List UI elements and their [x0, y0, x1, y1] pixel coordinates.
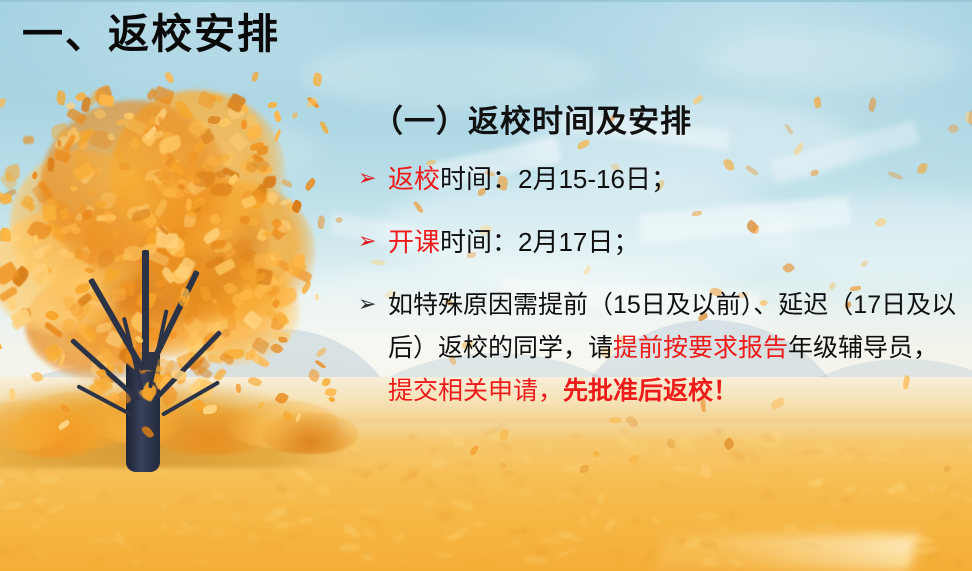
bullet-item: ➢返校时间：2月15-16日；	[358, 158, 958, 201]
page-title: 一、返校安排	[22, 10, 280, 59]
text-span-red: 提前按要求报告	[613, 334, 788, 362]
text-span-red-bold: 先批准后返校！	[563, 377, 738, 405]
bullet-item: ➢开课时间：2月17日；	[358, 221, 958, 264]
bullet-arrow-icon: ➢	[358, 221, 388, 263]
text-span-red: 返校	[388, 164, 440, 194]
text-span-red: 开课	[388, 227, 440, 257]
text-span-red: 提交相关申请，	[388, 377, 563, 405]
section-heading: （一）返校时间及安排	[372, 96, 692, 141]
bullet-text: 开课时间：2月17日；	[388, 221, 958, 264]
text-span-black: 年级辅导员，	[788, 334, 938, 362]
text-span-black: 时间：2月15-16日；	[440, 164, 677, 194]
bullet-text: 返校时间：2月15-16日；	[388, 158, 958, 201]
bullet-arrow-icon: ➢	[358, 284, 388, 326]
bullet-item: ➢如特殊原因需提前（15日及以前）、延迟（17日及以后）返校的同学，请提前按要求…	[358, 284, 958, 413]
bullet-list: ➢返校时间：2月15-16日；➢开课时间：2月17日；➢如特殊原因需提前（15日…	[358, 158, 958, 413]
bullet-text: 如特殊原因需提前（15日及以前）、延迟（17日及以后）返校的同学，请提前按要求报…	[388, 284, 958, 413]
presentation-slide: 一、返校安排 （一）返校时间及安排 ➢返校时间：2月15-16日；➢开课时间：2…	[0, 0, 972, 571]
text-span-black: 时间：2月17日；	[440, 227, 639, 257]
bullet-arrow-icon: ➢	[358, 158, 388, 200]
slide-content: 一、返校安排 （一）返校时间及安排 ➢返校时间：2月15-16日；➢开课时间：2…	[0, 0, 972, 571]
